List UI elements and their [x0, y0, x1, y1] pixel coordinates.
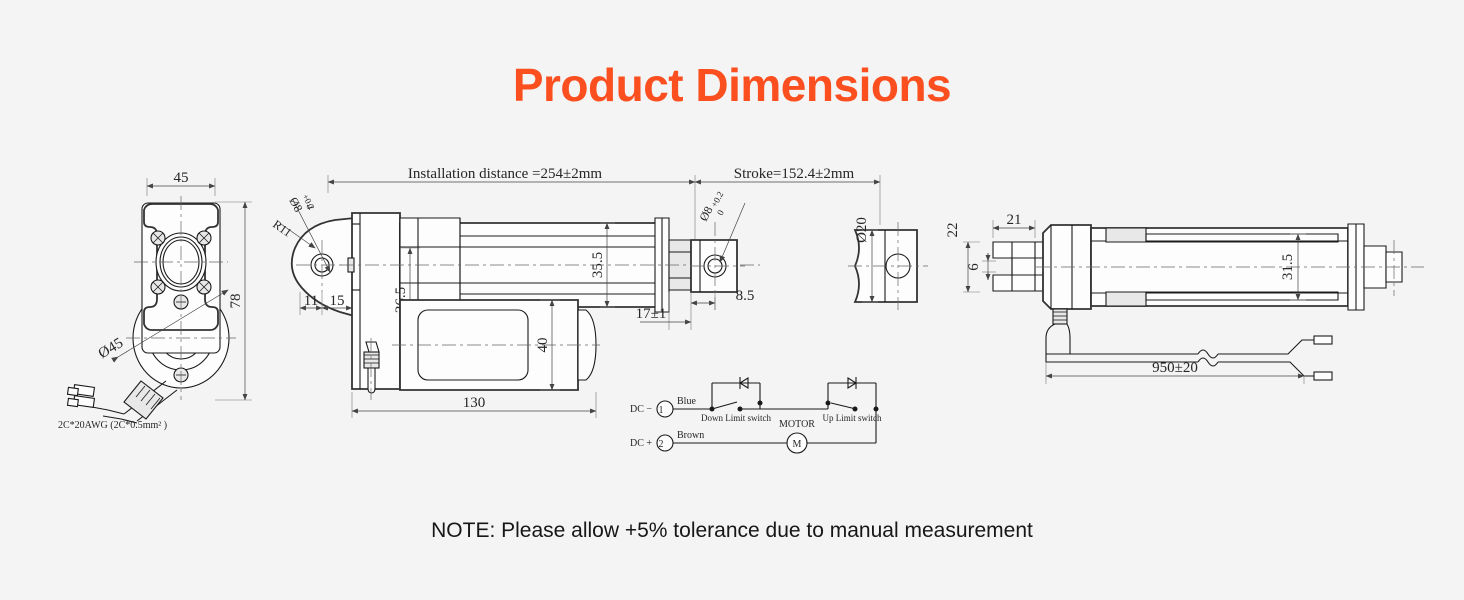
main-view-group: Installation distance =254±2mm Stroke=15…	[270, 166, 880, 418]
dim-installation-distance: Installation distance =254±2mm	[408, 166, 602, 182]
dim-tube-width: 31.5	[1280, 254, 1296, 280]
tolerance-note: NOTE: Please allow +5% tolerance due to …	[0, 519, 1464, 543]
dim-front-clevis-tol-lower: 0	[715, 208, 726, 217]
dim-rear-offset-b: 15	[330, 293, 345, 309]
dim-rod-diameter: Ø20	[854, 217, 870, 243]
dim-rear-offset-a: 11	[304, 293, 318, 309]
product-dimensions-page: Product Dimensions .ln { stroke:#1a1a1a;…	[0, 0, 1464, 600]
wiring-up-limit-label: Up Limit switch	[823, 413, 882, 423]
dim-bracket-width: 21	[1007, 212, 1022, 228]
dim-motor-width: 40	[535, 338, 551, 353]
wiring-motor-label: MOTOR	[779, 419, 815, 430]
wiring-down-limit-label: Down Limit switch	[701, 413, 771, 423]
wiring-terminal-1-polarity: DC −	[630, 404, 652, 415]
technical-drawing: .ln { stroke:#1a1a1a; stroke-width:1.1; …	[0, 0, 1464, 600]
wiring-terminal-2-color: Brown	[677, 430, 704, 441]
wiring-terminal-1-number: 1	[659, 405, 664, 416]
dim-left-width: 45	[174, 170, 189, 186]
wiring-terminal-1-color: Blue	[677, 396, 696, 407]
dim-rear-radius: R11	[270, 217, 294, 240]
dim-front-clevis-thickness: 8.5	[736, 288, 755, 304]
right-view-group: 22 21 6	[945, 212, 1424, 384]
wiring-schematic-group: 1 DC − Blue Down Limit switch	[630, 377, 882, 453]
dim-body-length: 130	[463, 395, 486, 411]
label-cable-spec: 2C*20AWG (2C*0.5mm² )	[58, 420, 167, 431]
dim-front-clevis-tol-upper: +0.2	[709, 190, 725, 209]
detail-view-group: Ø20	[848, 217, 928, 310]
wiring-terminal-2-polarity: DC +	[630, 438, 652, 449]
dim-front-clevis-offset: 17±1	[636, 306, 667, 322]
dim-cable-length: 950±20	[1152, 360, 1198, 376]
wiring-motor-symbol: M	[793, 439, 802, 450]
dim-left-height: 78	[228, 294, 244, 309]
left-view-group: 45 78	[58, 170, 252, 431]
dim-stroke: Stroke=152.4±2mm	[734, 166, 855, 182]
dim-tube-diameter: 35.5	[590, 252, 606, 278]
dim-bracket-height: 22	[945, 223, 961, 238]
wiring-terminal-2-number: 2	[659, 439, 664, 450]
dim-slot-width: 6	[966, 263, 982, 271]
dim-left-bore-diameter: Ø45	[96, 335, 126, 362]
